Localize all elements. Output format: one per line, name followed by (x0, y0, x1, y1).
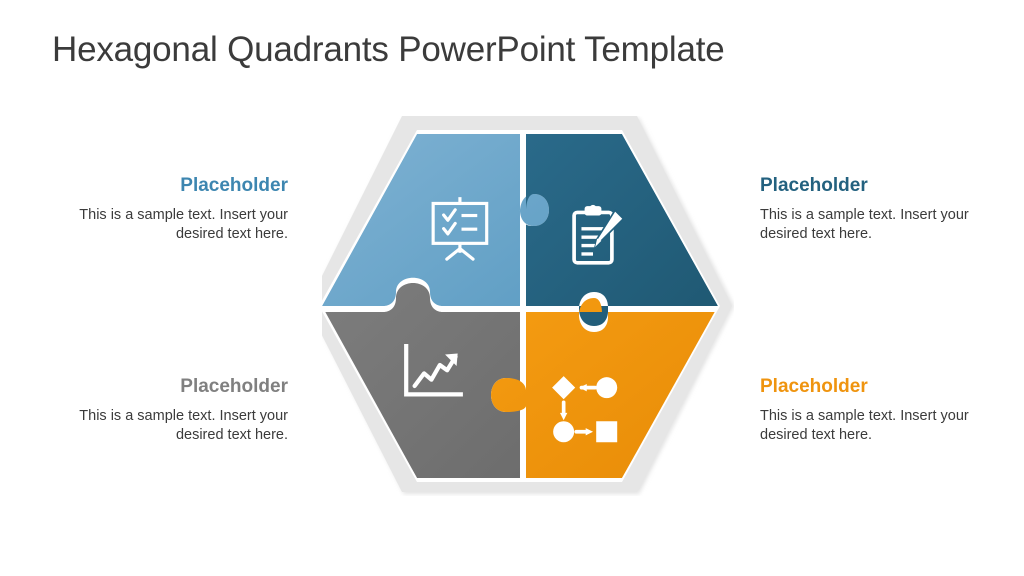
callout-top-left-title: Placeholder (56, 176, 288, 197)
callout-top-right-body: This is a sample text. Insert your desir… (760, 206, 992, 244)
callout-top-right[interactable]: Placeholder This is a sample text. Inser… (760, 176, 992, 244)
callout-top-left-body: This is a sample text. Insert your desir… (56, 206, 288, 244)
callout-bottom-left[interactable]: Placeholder This is a sample text. Inser… (56, 377, 288, 445)
callout-top-right-title: Placeholder (760, 176, 992, 197)
page-title: Hexagonal Quadrants PowerPoint Template (52, 30, 725, 70)
callout-bottom-left-title: Placeholder (56, 377, 288, 398)
callout-bottom-right-title: Placeholder (760, 377, 992, 398)
callout-bottom-left-body: This is a sample text. Insert your desir… (56, 407, 288, 445)
callout-bottom-right-body: This is a sample text. Insert your desir… (760, 407, 992, 445)
hexagon-puzzle-diagram (322, 116, 734, 496)
callout-bottom-right[interactable]: Placeholder This is a sample text. Inser… (760, 377, 992, 445)
callout-top-left[interactable]: Placeholder This is a sample text. Inser… (56, 176, 288, 244)
slide-canvas: Hexagonal Quadrants PowerPoint Template … (0, 0, 1024, 576)
